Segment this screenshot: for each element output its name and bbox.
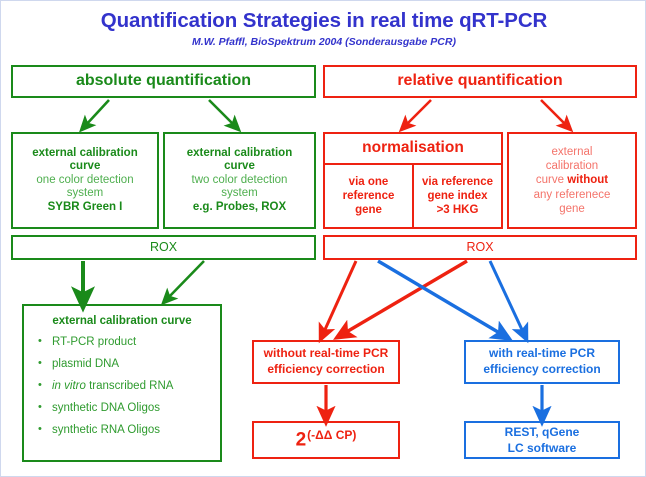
node-relative-quantification-label: relative quantification <box>397 72 562 91</box>
ecc-one-sub-line2: system <box>67 187 103 201</box>
software-line1: REST, qGene <box>505 424 580 440</box>
ecc-one-bold-line: SYBR Green I <box>48 201 123 215</box>
ecc-one-sub-line1: one color detection <box>36 174 133 188</box>
node-external-calibration-curve-without-reference: external calibration curve without any r… <box>507 132 637 229</box>
software-line2: LC software <box>508 440 577 456</box>
node-external-calibration-curve-one-color: external calibration curve one color det… <box>11 132 159 229</box>
ecc-two-title-line1: external calibration <box>187 147 292 161</box>
norm-col1-line1: via one <box>349 175 389 189</box>
arrow-rox-to-without-correction-crossing <box>343 261 467 334</box>
page-subtitle: M.W. Pfaffl, BioSpektrum 2004 (Sonderaus… <box>1 36 646 48</box>
list-item: RT-PCR product <box>38 336 234 349</box>
list-item-text: plasmid DNA <box>52 358 119 370</box>
norm-col2-line3: >3 HKG <box>437 203 479 217</box>
arrow-rox-to-with-correction-crossing <box>378 261 503 335</box>
arrow-rox-to-with-correction <box>490 261 524 334</box>
formula-exponent: (-ΔΔ CP) <box>307 428 356 442</box>
ecc-noref-line1: external <box>552 145 593 159</box>
ecc-two-bold-line: e.g. Probes, ROX <box>193 201 286 215</box>
arrow-rox-to-ecc-list-diagonal <box>167 261 204 299</box>
without-correction-line1: without real-time PCR <box>264 346 389 362</box>
list-item-text: transcribed RNA <box>89 380 173 392</box>
list-item: synthetic DNA Oligos <box>38 402 234 415</box>
with-correction-line2: efficiency correction <box>483 362 600 378</box>
arrow-rox-to-without-correction <box>323 261 356 334</box>
ecc-one-title-line2: curve <box>70 160 101 174</box>
list-item-text: RT-PCR product <box>52 336 136 348</box>
ecc-noref-line3-bold: without <box>567 174 608 186</box>
arrow-absolute-to-ecc-one <box>85 100 109 126</box>
norm-col1-line2: reference <box>343 189 395 203</box>
normalisation-columns: via one reference gene via reference gen… <box>325 165 501 227</box>
ecc-two-sub-line2: system <box>221 187 257 201</box>
with-correction-line1: with real-time PCR <box>489 346 595 362</box>
node-relative-quantification: relative quantification <box>323 65 637 98</box>
node-with-efficiency-correction: with real-time PCR efficiency correction <box>464 340 620 384</box>
ecc-one-title-line1: external calibration <box>32 147 137 161</box>
normalisation-column-reference-gene-index: via reference gene index >3 HKG <box>414 165 501 227</box>
rox-relative-label: ROX <box>466 240 493 255</box>
list-item: plasmid DNA <box>38 358 234 371</box>
node-software-tools: REST, qGene LC software <box>464 421 620 459</box>
ecc-list: RT-PCR product plasmid DNA in vitro tran… <box>24 336 234 447</box>
normalisation-column-one-reference-gene: via one reference gene <box>325 165 414 227</box>
node-external-calibration-curve-list: external calibration curve RT-PCR produc… <box>22 304 222 462</box>
node-rox-absolute: ROX <box>11 235 316 260</box>
list-item-text: synthetic DNA Oligos <box>52 402 160 414</box>
ecc-noref-line3-pre: curve <box>536 174 567 186</box>
ecc-list-title: external calibration curve <box>24 315 220 329</box>
norm-col1-line3: gene <box>355 203 382 217</box>
list-item: in vitro transcribed RNA <box>38 380 234 393</box>
node-rox-relative: ROX <box>323 235 637 260</box>
without-correction-line2: efficiency correction <box>267 362 384 378</box>
node-external-calibration-curve-two-color: external calibration curve two color det… <box>163 132 316 229</box>
node-absolute-quantification: absolute quantification <box>11 65 316 98</box>
ecc-two-title-line2: curve <box>224 160 255 174</box>
rox-absolute-label: ROX <box>150 240 177 255</box>
norm-col2-line2: gene index <box>427 189 487 203</box>
ecc-noref-line5: gene <box>559 202 585 216</box>
page-title: Quantification Strategies in real time q… <box>1 9 646 33</box>
ecc-noref-line3: curve without <box>536 173 608 187</box>
list-item-text: synthetic RNA Oligos <box>52 424 160 436</box>
node-formula-delta-delta-cp: 2(-ΔΔ CP) <box>252 421 400 459</box>
norm-col2-line1: via reference <box>422 175 493 189</box>
diagram-canvas: Quantification Strategies in real time q… <box>0 0 646 477</box>
list-item: synthetic RNA Oligos <box>38 424 234 437</box>
ecc-noref-line2: calibration <box>546 159 598 173</box>
arrow-relative-to-ecc-noref <box>541 100 567 126</box>
list-item-italic-prefix: in vitro <box>52 380 86 392</box>
node-normalisation: normalisation via one reference gene via… <box>323 132 503 229</box>
normalisation-title: normalisation <box>325 134 501 165</box>
ecc-two-sub-line1: two color detection <box>192 174 288 188</box>
formula: 2(-ΔΔ CP) <box>296 428 357 452</box>
arrow-absolute-to-ecc-two <box>209 100 235 126</box>
arrow-relative-to-normalisation <box>405 100 431 126</box>
node-without-efficiency-correction: without real-time PCR efficiency correct… <box>252 340 400 384</box>
ecc-noref-line4: any referenece <box>534 188 611 202</box>
formula-base: 2 <box>296 429 307 450</box>
node-absolute-quantification-label: absolute quantification <box>76 72 251 91</box>
